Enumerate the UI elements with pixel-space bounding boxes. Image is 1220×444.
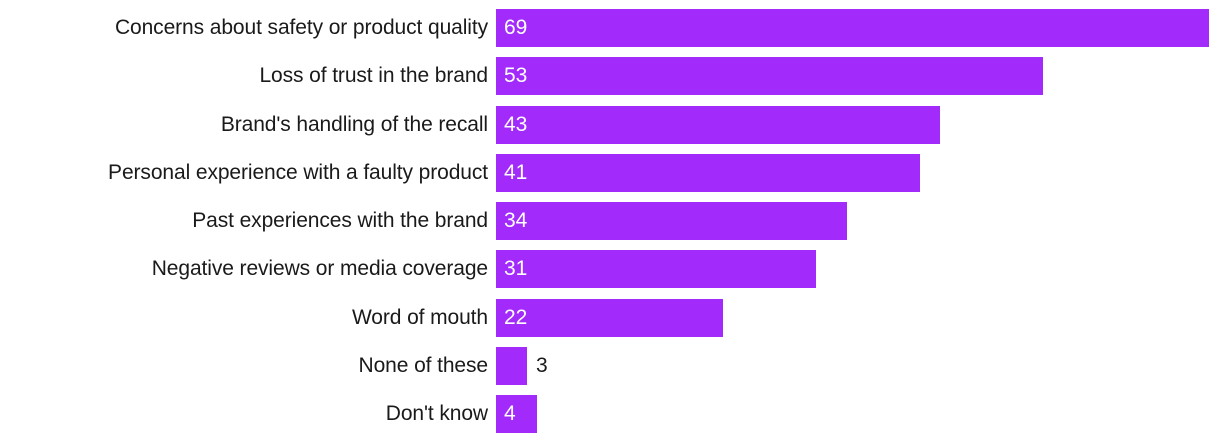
bar-value-label: 43 [504,106,527,144]
bar-row: None of these3 [0,347,1220,385]
bar-value-label: 4 [504,395,516,433]
bar-category-label: Past experiences with the brand [0,202,488,240]
bar-category-label: Brand's handling of the recall [0,106,488,144]
bar-category-label: Loss of trust in the brand [0,57,488,95]
bar-category-label: Don't know [0,395,488,433]
bar-category-label: Word of mouth [0,299,488,337]
bar-row: Loss of trust in the brand53 [0,57,1220,95]
bar-category-label: Concerns about safety or product quality [0,9,488,47]
bar[interactable] [496,9,1209,47]
bar[interactable] [496,395,537,433]
bar[interactable] [496,57,1043,95]
bar-row: Past experiences with the brand34 [0,202,1220,240]
bar-row: Brand's handling of the recall43 [0,106,1220,144]
bar[interactable] [496,154,920,192]
bar-value-label: 69 [504,9,527,47]
bar[interactable] [496,250,816,288]
bar[interactable] [496,106,940,144]
bar-row: Negative reviews or media coverage31 [0,250,1220,288]
bar-value-label: 22 [504,299,527,337]
bar-value-label: 31 [504,250,527,288]
bar[interactable] [496,202,847,240]
bar-row: Word of mouth22 [0,299,1220,337]
bar[interactable] [496,299,723,337]
bar-value-label: 41 [504,154,527,192]
bar-category-label: Personal experience with a faulty produc… [0,154,488,192]
bar-category-label: Negative reviews or media coverage [0,250,488,288]
bar[interactable] [496,347,527,385]
bar-value-label: 53 [504,57,527,95]
bar-row: Personal experience with a faulty produc… [0,154,1220,192]
bar-value-label: 3 [536,347,548,385]
bar-row: Concerns about safety or product quality… [0,9,1220,47]
horizontal-bar-chart: Concerns about safety or product quality… [0,0,1220,444]
bar-category-label: None of these [0,347,488,385]
bar-row: Don't know4 [0,395,1220,433]
bar-value-label: 34 [504,202,527,240]
